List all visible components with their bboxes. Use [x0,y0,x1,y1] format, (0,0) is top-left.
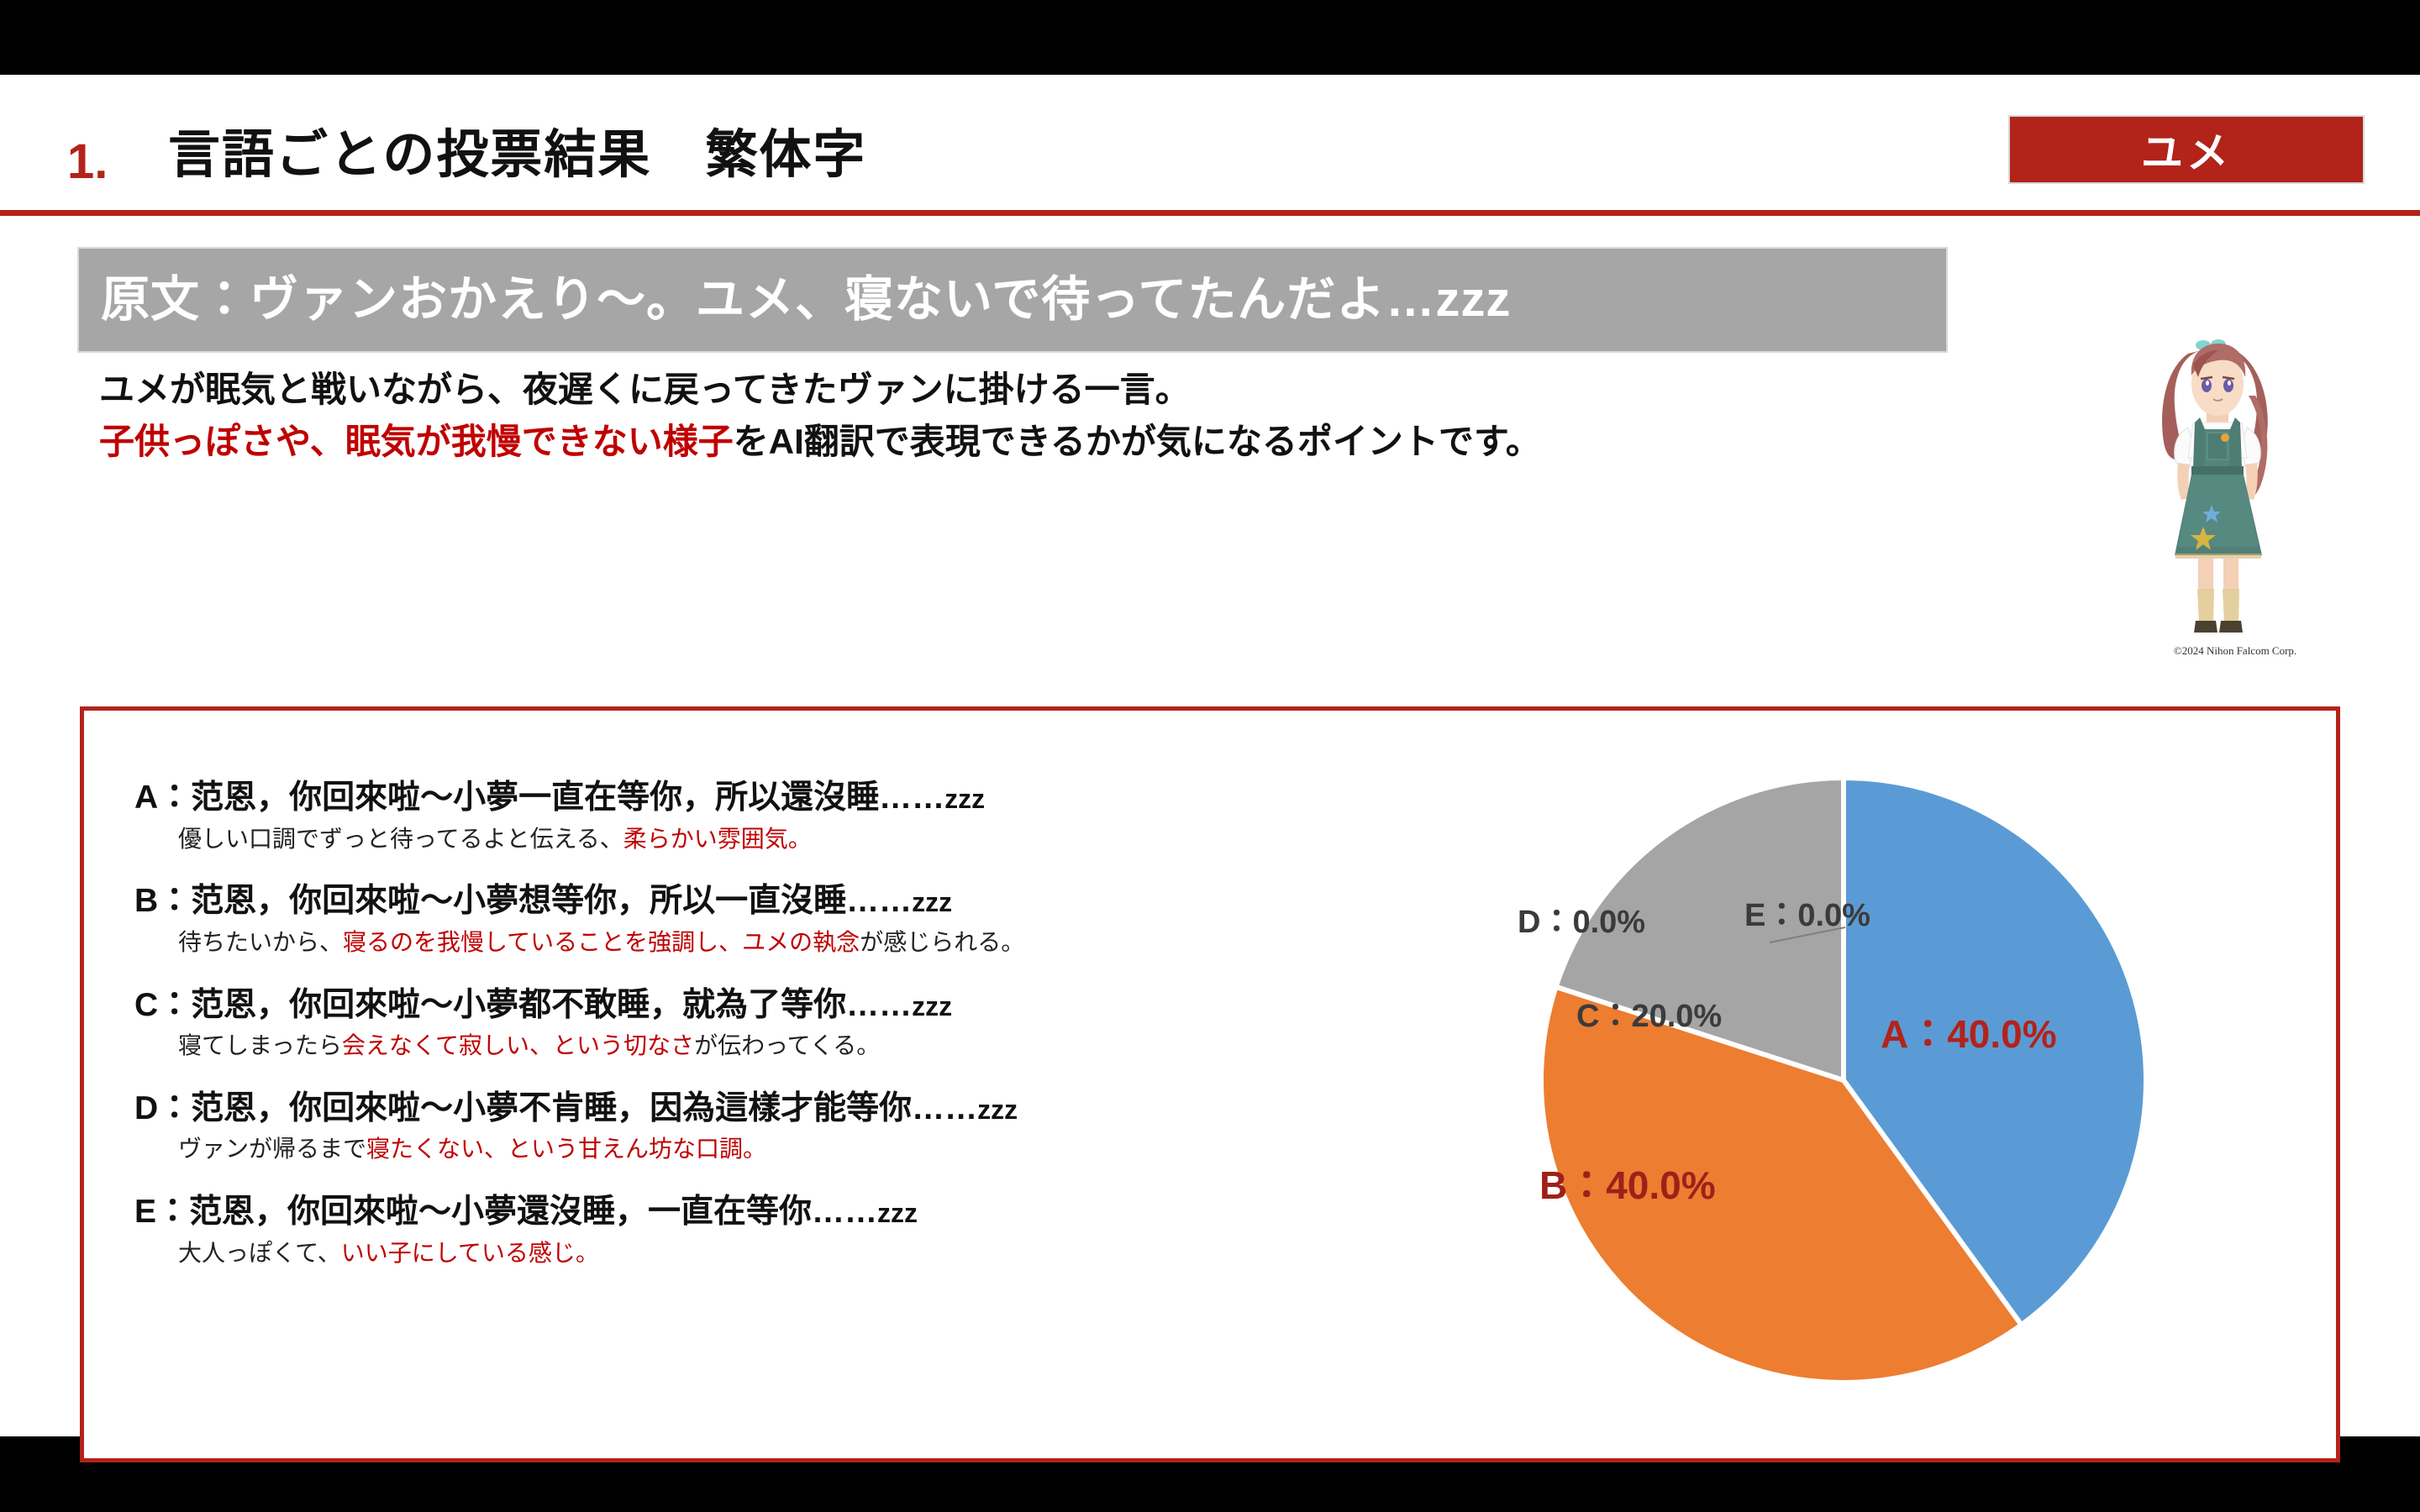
option-a-text: A：范恩，你回來啦～小夢一直在等你，所以還沒睡……zzz [134,780,1395,816]
option-d-note: ヴァンが帰るまで寝たくない、という甘えん坊な口調。 [178,1135,1395,1163]
pie-label-b: B：40.0% [1539,1166,1716,1205]
source-text-label: 原文：ヴァンおかえり〜。ユメ、寝ないで待ってたんだよ…zzz [101,276,1511,324]
pie-label-e: E：0.0% [1744,900,1870,932]
option-d-zzz: zzz [977,1095,1018,1125]
option-a-zzz: zzz [944,784,985,814]
list-item: D：范恩，你回來啦～小夢不肯睡，因為這樣才能等你……zzz ヴァンが帰るまで寝た… [134,1090,1395,1163]
pie-canvas [1395,736,2286,1441]
pie-label-a: A：40.0% [1881,1015,2057,1053]
page-title: 言語ごとの投票結果 繁体字 [168,127,866,184]
page-title-number: 1. [67,138,108,186]
pie-label-d: D：0.0% [1518,906,1645,938]
option-e-text: E：范恩，你回來啦～小夢還沒睡，一直在等你……zzz [134,1194,1395,1231]
option-b-note: 待ちたいから、寝るのを我慢していることを強調し、ユメの執念が感じられる。 [178,928,1395,957]
lead-highlight: 子供っぽさや、眠気が我慢できない様子 [99,422,734,461]
option-a-note-highlight: 柔らかい雰囲気。 [623,826,812,852]
copyright-notice: ©2024 Nihon Falcom Corp. [2101,644,2370,658]
option-list: A：范恩，你回來啦～小夢一直在等你，所以還沒睡……zzz 優しい口調でずっと待っ… [134,780,1395,1267]
list-item: C：范恩，你回來啦～小夢都不敢睡，就為了等你……zzz 寝てしまったら会えなくて… [134,987,1395,1060]
option-b-note-highlight: 寝るのを我慢していることを強調し、ユメの執念 [343,929,860,955]
character-illustration [2101,318,2370,688]
option-d-note-highlight: 寝たくない、という甘えん坊な口調。 [366,1136,766,1162]
option-e-note: 大人っぽくて、いい子にしている感じ。 [178,1239,1395,1268]
slide-canvas: 1. 言語ごとの投票結果 繁体字 ユメ 原文：ヴァンおかえり〜。ユメ、寝ないで待… [0,75,2420,1436]
option-b-zzz: zzz [912,887,952,917]
pie-label-c: C：20.0% [1576,1000,1722,1032]
list-item: B：范恩，你回來啦～小夢想等你，所以一直沒睡……zzz 待ちたいから、寝るのを我… [134,883,1395,956]
list-item: A：范恩，你回來啦～小夢一直在等你，所以還沒睡……zzz 優しい口調でずっと待っ… [134,780,1395,853]
letterbox-top [0,0,2420,75]
option-b-text: B：范恩，你回來啦～小夢想等你，所以一直沒睡……zzz [134,883,1395,920]
option-c-note: 寝てしまったら会えなくて寂しい、という切なさが伝わってくる。 [178,1032,1395,1060]
option-c-text: C：范恩，你回來啦～小夢都不敢睡，就為了等你……zzz [134,987,1395,1024]
header-divider [0,210,2420,216]
lead-line-2-rest: をAI翻訳で表現できるかが気になるポイントです。 [734,422,1541,461]
character-name-badge: ユメ [2010,117,2363,182]
option-e-note-highlight: いい子にしている感じ。 [341,1240,599,1266]
source-text-banner: 原文：ヴァンおかえり〜。ユメ、寝ないで待ってたんだよ…zzz [79,249,1946,351]
vote-pie-chart: A：40.0% B：40.0% C：20.0% D：0.0% E：0.0% [1395,736,2286,1441]
option-c-note-highlight: 会えなくて寂しい、という切なさ [342,1032,694,1058]
list-item: E：范恩，你回來啦～小夢還沒睡，一直在等你……zzz 大人っぽくて、いい子にして… [134,1194,1395,1267]
lead-line-1: ユメが眠気と戦いながら、夜遅くに戻ってきたヴァンに掛ける一言。 [99,367,1948,412]
option-c-zzz: zzz [912,991,952,1021]
results-panel: A：范恩，你回來啦～小夢一直在等你，所以還沒睡……zzz 優しい口調でずっと待っ… [80,706,2340,1462]
lead-line-2: 子供っぽさや、眠気が我慢できない様子をAI翻訳で表現できるかが気になるポイントで… [99,419,1948,465]
option-e-zzz: zzz [877,1198,918,1228]
option-d-text: D：范恩，你回來啦～小夢不肯睡，因為這樣才能等你……zzz [134,1090,1395,1127]
option-a-note: 優しい口調でずっと待ってるよと伝える、柔らかい雰囲気。 [178,825,1395,853]
lead-description: ユメが眠気と戦いながら、夜遅くに戻ってきたヴァンに掛ける一言。 子供っぽさや、眠… [99,367,1948,465]
